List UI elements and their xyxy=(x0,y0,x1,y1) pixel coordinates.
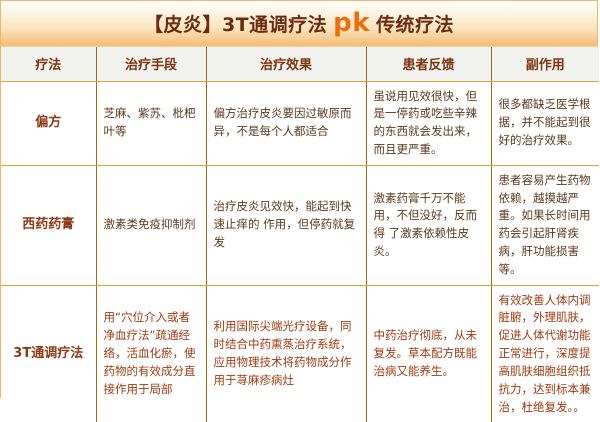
cell-side-effects: 很多都缺乏医学根据，并不能起到很好的治疗效果。 xyxy=(491,81,599,165)
title-pk-accent: pk xyxy=(328,10,375,36)
cell-side-effects: 患者容易产生药物依赖，越摸越严重。如果长时间用药会引起肝肾疾病，肝功能损害等。 xyxy=(491,165,599,285)
table-body: 偏方 芝麻、紫苏、枇杷叶等 偏方治疗皮炎要因过敏原而异，不是每个人都适合 虽说用… xyxy=(1,81,599,422)
column-header-feedback: 患者反馈 xyxy=(366,47,491,81)
cell-therapy-name: 偏方 xyxy=(1,81,96,165)
page-title: 【皮炎】3T通调疗法 pk 传统疗法 xyxy=(144,10,454,37)
cell-treatment-effect: 利用国际尖端光疗设备，同时结合中药熏蒸治疗系统，应用物理技术将药物成分作用于荨麻… xyxy=(206,285,366,422)
cell-treatment-effect: 治疗皮炎见效快，能起到快速止痒的 作用，但停药就复发 xyxy=(206,165,366,285)
table-row: 偏方 芝麻、紫苏、枇杷叶等 偏方治疗皮炎要因过敏原而异，不是每个人都适合 虽说用… xyxy=(1,81,599,165)
cell-therapy-name: 西药药膏 xyxy=(1,165,96,285)
table-header: 疗法 治疗手段 治疗效果 患者反馈 副作用 xyxy=(1,47,599,81)
column-header-means: 治疗手段 xyxy=(96,47,206,81)
cell-treatment-means: 用“穴位介入或者净血疗法”疏通经络，活血化瘀，使药物的有效成分直接作用于局部 xyxy=(96,285,206,422)
column-header-therapy: 疗法 xyxy=(1,47,96,81)
table-header-row: 疗法 治疗手段 治疗效果 患者反馈 副作用 xyxy=(1,47,599,81)
column-header-side: 副作用 xyxy=(491,47,599,81)
comparison-table: 疗法 治疗手段 治疗效果 患者反馈 副作用 偏方 芝麻、紫苏、枇杷叶等 偏方治疗… xyxy=(1,47,599,422)
cell-treatment-effect: 偏方治疗皮炎要因过敏原而异，不是每个人都适合 xyxy=(206,81,366,165)
title-segment-secondary: 传统疗法 xyxy=(375,10,454,37)
title-segment-primary: 【皮炎】3T通调疗法 xyxy=(144,10,328,37)
cell-patient-feedback: 虽说用见效很快，但是一停药或吃些辛辣的东西就会发出来，而且更严重。 xyxy=(366,81,491,165)
title-banner: 【皮炎】3T通调疗法 pk 传统疗法 xyxy=(1,1,597,47)
table-row: 西药药膏 激素类免疫抑制剂 治疗皮炎见效快，能起到快速止痒的 作用，但停药就复发… xyxy=(1,165,599,285)
table-row: 3T通调疗法 用“穴位介入或者净血疗法”疏通经络，活血化瘀，使药物的有效成分直接… xyxy=(1,285,599,422)
cell-treatment-means: 芝麻、紫苏、枇杷叶等 xyxy=(96,81,206,165)
cell-treatment-means: 激素类免疫抑制剂 xyxy=(96,165,206,285)
cell-therapy-name: 3T通调疗法 xyxy=(1,285,96,422)
column-header-effect: 治疗效果 xyxy=(206,47,366,81)
comparison-table-card: 【皮炎】3T通调疗法 pk 传统疗法 疗法 治疗手段 治疗效果 患者反馈 副作用… xyxy=(0,0,598,398)
cell-patient-feedback: 激素药膏千万不能用，不但没好，反而得 了激素依赖性皮炎。 xyxy=(366,165,491,285)
cell-side-effects: 有效改善人体内调脏腑，外理肌肤，促进人体代谢功能正常进行，深度提高肌肤细胞组织抵… xyxy=(491,285,599,422)
cell-patient-feedback: 中药治疗彻底，从未复发。草本配方既能治病又能养生。 xyxy=(366,285,491,422)
